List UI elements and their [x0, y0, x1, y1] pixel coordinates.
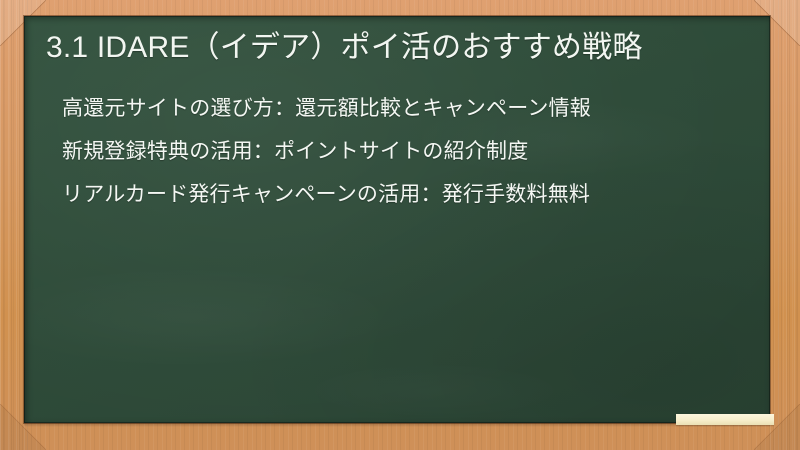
bullet-list: 高還元サイトの選び方：還元額比較とキャンペーン情報 新規登録特典の活用：ポイント…	[46, 94, 748, 209]
list-item: 高還元サイトの選び方：還元額比較とキャンペーン情報	[62, 94, 748, 124]
chalk-stick-icon	[676, 414, 774, 425]
page-title: 3.1 IDARE（イデア）ポイ活のおすすめ戦略	[46, 28, 748, 68]
slide-content: 3.1 IDARE（イデア）ポイ活のおすすめ戦略 高還元サイトの選び方：還元額比…	[24, 16, 770, 209]
chalk-ledge	[24, 423, 770, 427]
list-item: リアルカード発行キャンペーンの活用：発行手数料無料	[62, 180, 748, 210]
list-item: 新規登録特典の活用：ポイントサイトの紹介制度	[62, 137, 748, 167]
chalkboard-slide: 3.1 IDARE（イデア）ポイ活のおすすめ戦略 高還元サイトの選び方：還元額比…	[0, 0, 800, 450]
chalkboard-surface: 3.1 IDARE（イデア）ポイ活のおすすめ戦略 高還元サイトの選び方：還元額比…	[24, 16, 770, 423]
frame-grain-right	[770, 0, 800, 450]
